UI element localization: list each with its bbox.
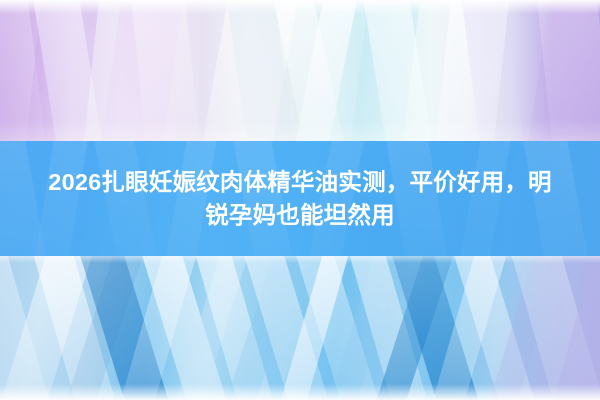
facet-shape	[275, 256, 351, 400]
facet-shape	[0, 256, 55, 400]
facet-shape	[193, 256, 279, 400]
bottom-top-highlight	[0, 256, 600, 263]
title-line-2: 锐孕妈也能坦然用	[205, 199, 395, 232]
bottom-decoration	[0, 256, 600, 400]
top-edge-haze	[0, 0, 600, 14]
facet-shape	[427, 256, 509, 400]
facet-shape	[483, 256, 565, 400]
facet-shape	[241, 256, 335, 400]
facet-shape	[509, 256, 600, 400]
facet-shape	[370, 256, 457, 400]
facet-shape	[115, 256, 199, 400]
facet-shape	[169, 256, 251, 400]
facet-shape	[323, 256, 405, 400]
top-bottom-haze	[0, 120, 600, 142]
watermark	[288, 382, 314, 394]
banner-card: 2026扎眼妊娠纹肉体精华油实测，平价好用，明 锐孕妈也能坦然用	[0, 0, 600, 400]
facet-shape	[389, 256, 485, 400]
facet-shape	[220, 256, 307, 400]
facet-shape	[139, 256, 233, 400]
facet-shape	[347, 256, 433, 400]
facet-shape	[60, 256, 147, 400]
title-banner: 2026扎眼妊娠纹肉体精华油实测，平价好用，明 锐孕妈也能坦然用	[0, 141, 600, 256]
facet-shape	[549, 256, 600, 400]
title-line-1: 2026扎眼妊娠纹肉体精华油实测，平价好用，明	[42, 166, 557, 199]
facet-shape	[451, 256, 541, 400]
facet-shape	[31, 256, 121, 400]
facet-shape	[293, 256, 385, 400]
facet-shape	[77, 256, 175, 400]
title-text-block: 2026扎眼妊娠纹肉体精华油实测，平价好用，明 锐孕妈也能坦然用	[0, 141, 600, 256]
top-decoration	[0, 0, 600, 142]
facet-shape	[0, 256, 95, 400]
